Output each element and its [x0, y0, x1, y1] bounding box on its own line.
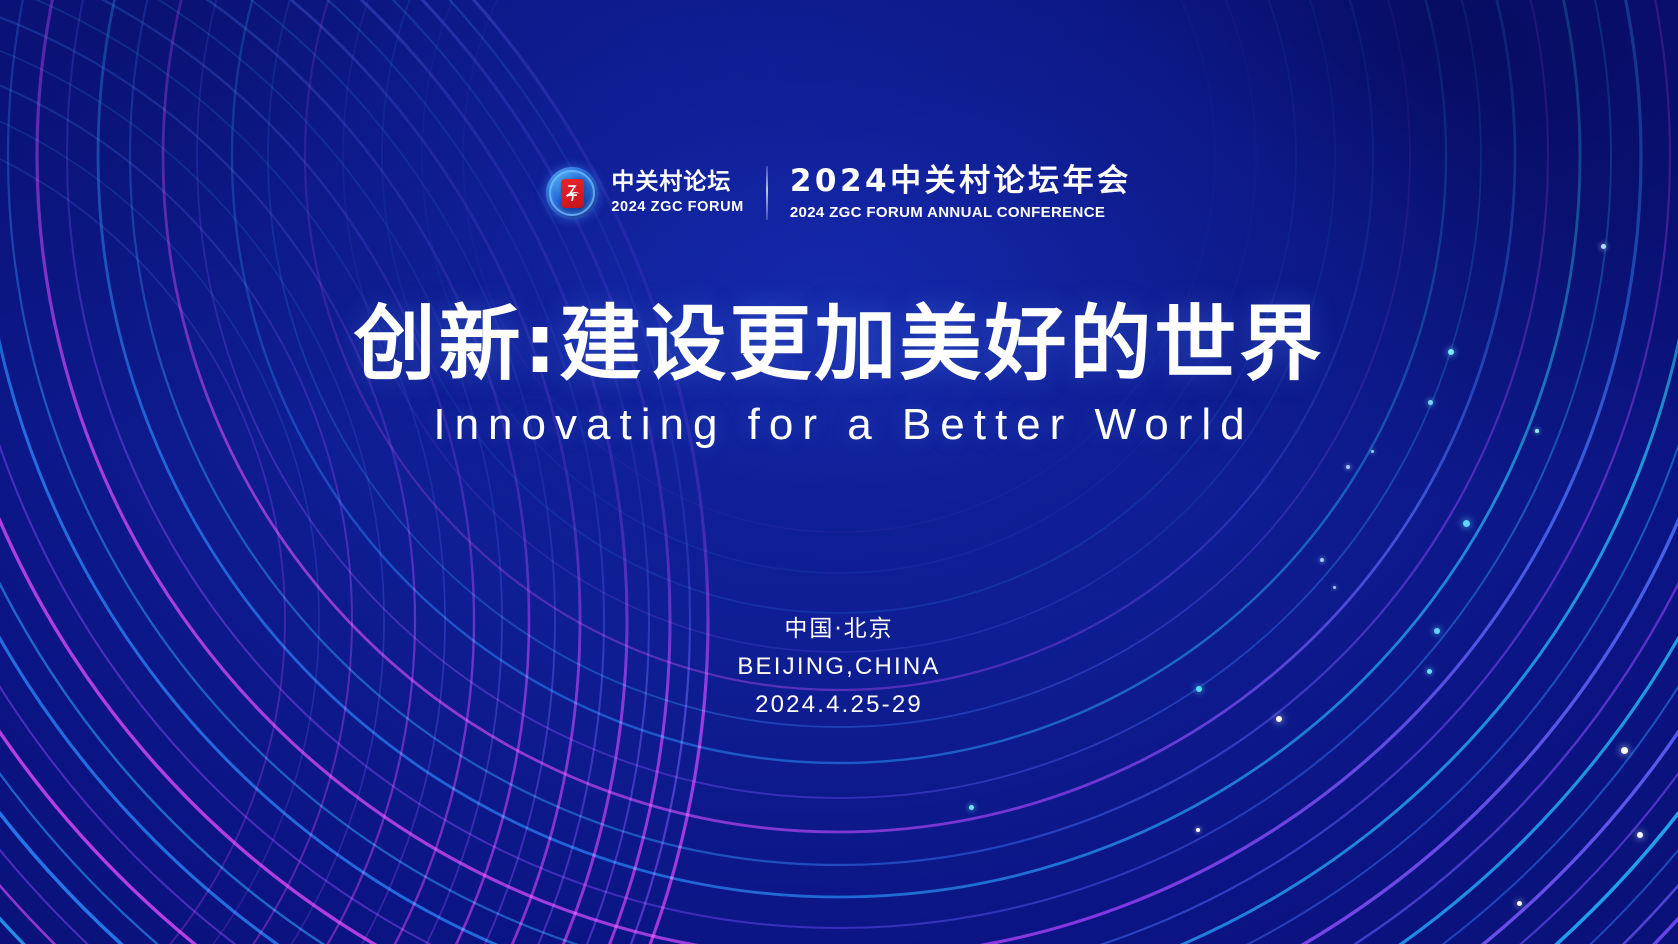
event-details: 中国·北京 BEIJING,CHINA 2024.4.25-29 [0, 618, 1678, 717]
conference-name: 2024中关村论坛年会 2024 ZGC FORUM ANNUAL CONFER… [790, 166, 1132, 220]
header-lockup: 中关村论坛 2024 ZGC FORUM 2024中关村论坛年会 2024 ZG… [0, 166, 1678, 220]
location-cn: 中国·北京 [0, 618, 1678, 641]
event-date: 2024.4.25-29 [0, 693, 1678, 717]
emblem-badge [561, 179, 584, 208]
forum-name-en: 2024 ZGC FORUM [611, 200, 743, 215]
zgc-forum-poster: 中关村论坛 2024 ZGC FORUM 2024中关村论坛年会 2024 ZG… [0, 0, 1678, 944]
forum-logo: 中关村论坛 2024 ZGC FORUM [546, 167, 743, 219]
poster-content: 中关村论坛 2024 ZGC FORUM 2024中关村论坛年会 2024 ZG… [0, 0, 1678, 944]
location-en: BEIJING,CHINA [0, 655, 1678, 679]
zgc-forum-emblem-icon [546, 167, 598, 219]
main-title-cn: 创新:建设更加美好的世界 [0, 303, 1678, 387]
conference-name-cn: 2024中关村论坛年会 [790, 166, 1132, 197]
forum-logo-text: 中关村论坛 2024 ZGC FORUM [611, 171, 743, 215]
main-title-en: Innovating for a Better World [0, 402, 1678, 448]
header-divider [766, 166, 768, 220]
forum-name-cn: 中关村论坛 [611, 171, 743, 194]
conference-name-en: 2024 ZGC FORUM ANNUAL CONFERENCE [790, 205, 1132, 220]
